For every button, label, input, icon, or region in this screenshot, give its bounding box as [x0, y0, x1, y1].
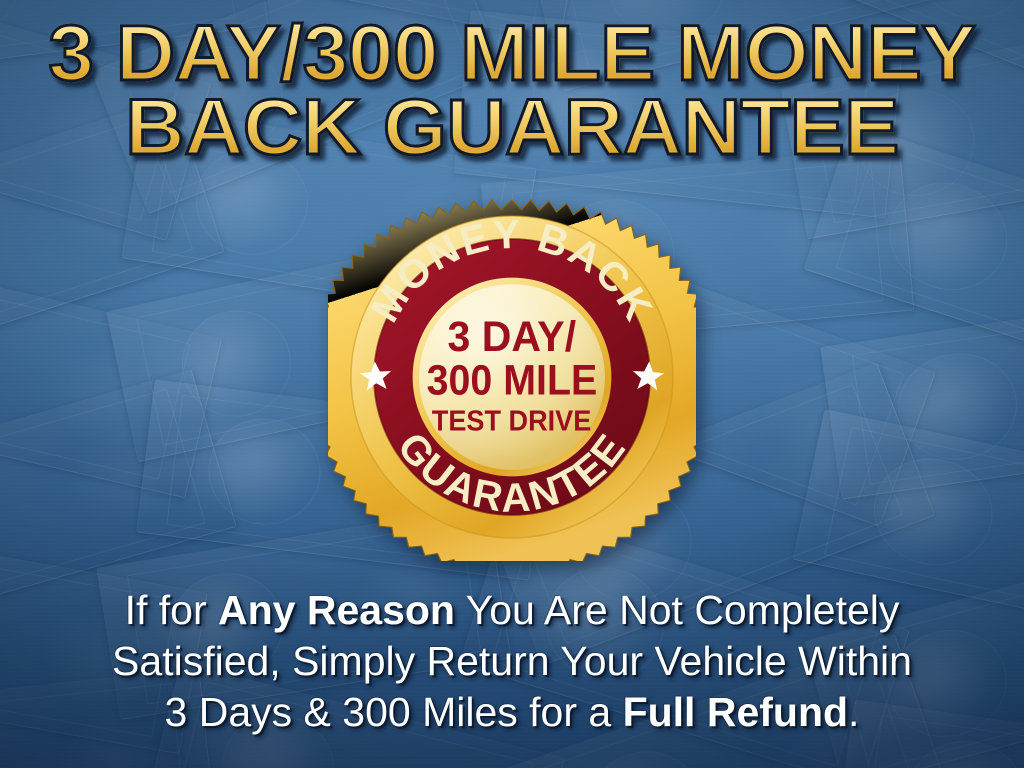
body-line-2: Satisfied, Simply Return Your Vehicle Wi… [0, 636, 1024, 687]
body-copy: If for Any Reason You Are Not Completely… [0, 585, 1024, 738]
money-back-guarantee-seal: MONEY BACK GUARANTEE 3 DAY/ 300 MILE TES… [328, 193, 696, 561]
body-line-3: 3 Days & 300 Miles for a Full Refund. [0, 687, 1024, 738]
money-back-guarantee-banner: 3 DAY/300 MILE MONEY BACK GUARANTEE [0, 0, 1024, 768]
body-line-3-text-a: 3 Days & 300 Miles for a [165, 689, 623, 735]
body-line-1-emphasis: Any Reason [218, 587, 455, 633]
body-line-3-emphasis: Full Refund [623, 689, 848, 735]
seal-inner-line-2: 300 MILE [427, 356, 598, 404]
body-line-3-text-b: . [848, 689, 859, 735]
body-line-1-text-a: If for [125, 587, 218, 633]
body-line-1: If for Any Reason You Are Not Completely [0, 585, 1024, 636]
headline: 3 DAY/300 MILE MONEY BACK GUARANTEE [0, 18, 1024, 162]
seal-inner-line-1: 3 DAY/ [448, 313, 577, 361]
body-line-1-text-b: You Are Not Completely [455, 587, 899, 633]
headline-line-2: BACK GUARANTEE [0, 92, 1024, 162]
seal-inner-line-3: TEST DRIVE [432, 405, 591, 437]
headline-line-1: 3 DAY/300 MILE MONEY [0, 18, 1024, 88]
seal-inner-text: 3 DAY/ 300 MILE TEST DRIVE [427, 313, 598, 437]
